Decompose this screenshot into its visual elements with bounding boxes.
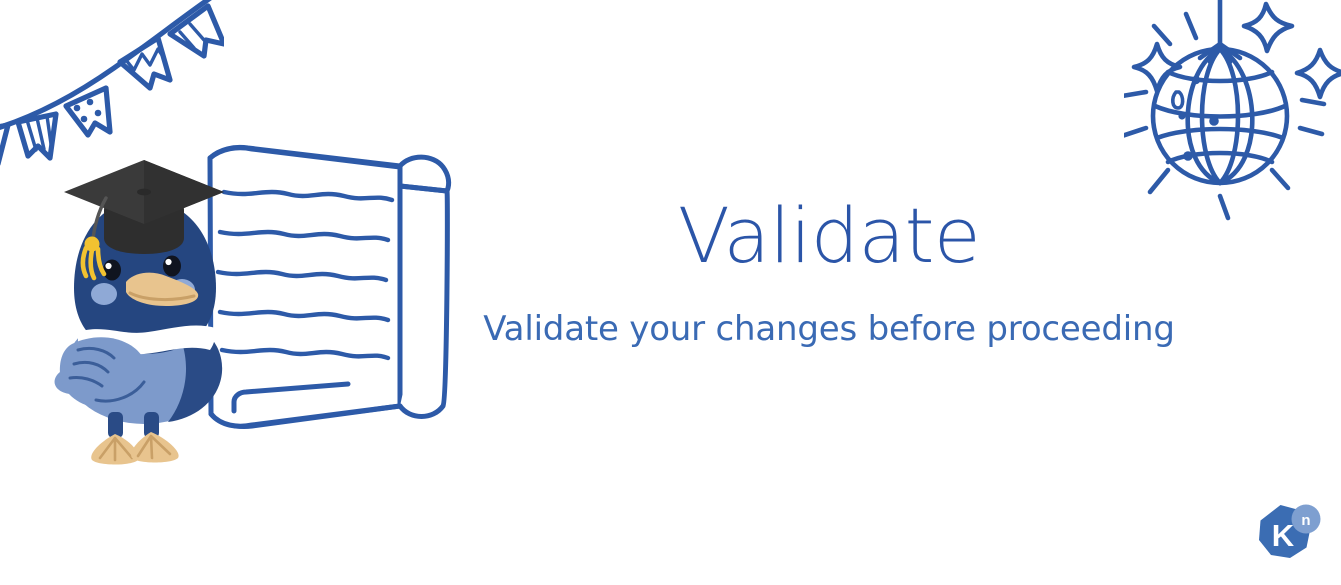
scroll-document-icon: [210, 147, 449, 426]
page-subtitle: Validate your changes before proceeding: [468, 309, 1190, 350]
page-title: Validate: [468, 196, 1190, 275]
knative-logo: K n: [1251, 502, 1323, 572]
disco-ball-icon: [1124, 0, 1341, 228]
slide-canvas: Validate Validate your changes before pr…: [0, 0, 1341, 585]
duck-with-graduation-cap-icon: [55, 160, 224, 465]
logo-primary-letter: K: [1272, 518, 1295, 553]
hero-text-block: Validate Validate your changes before pr…: [468, 196, 1190, 350]
validate-illustration: [48, 136, 468, 470]
logo-badge-letter: n: [1301, 512, 1310, 529]
